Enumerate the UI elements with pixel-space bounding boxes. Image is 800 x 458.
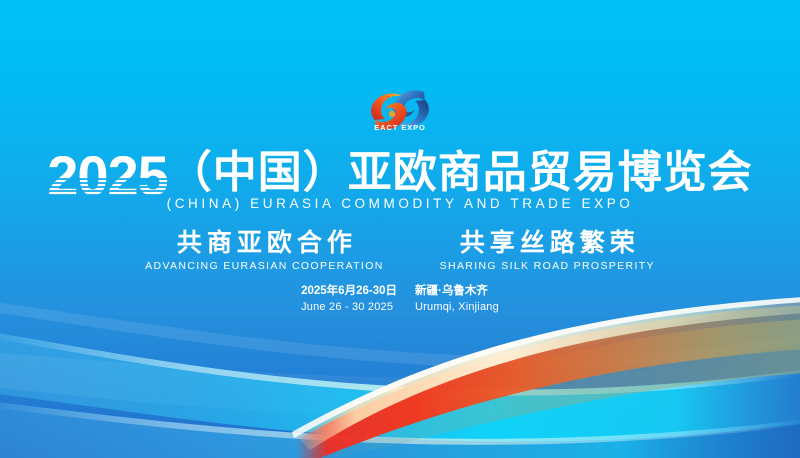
title-chinese: （中国）亚欧商品贸易博览会 [168, 151, 753, 195]
background-waves [0, 0, 800, 458]
event-venue-chinese: 新疆·乌鲁木齐 [415, 284, 499, 300]
slogan-left-chinese: 共商亚欧合作 [145, 230, 383, 258]
expo-banner: EACT EXPO 2025（中国）亚欧商品贸易博览会 (CHINA) EURA… [0, 0, 800, 458]
logo-wordmark: EACT EXPO [0, 123, 800, 132]
slogan-right-chinese: 共享丝路繁荣 [440, 230, 655, 258]
slogan-left-english: ADVANCING EURASIAN COOPERATION [145, 261, 383, 273]
slogan-left: 共商亚欧合作 ADVANCING EURASIAN COOPERATION [145, 230, 383, 272]
event-venue-english: Urumqi, Xinjiang [415, 300, 499, 315]
title-english: (CHINA) EURASIA COMMODITY AND TRADE EXPO [0, 196, 800, 211]
event-date: 2025年6月26-30日 June 26 - 30 2025 [301, 284, 397, 314]
slogan-right: 共享丝路繁荣 SHARING SILK ROAD PROSPERITY [440, 230, 655, 272]
date-venue-row: 2025年6月26-30日 June 26 - 30 2025 新疆·乌鲁木齐 … [0, 284, 800, 314]
slogan-row: 共商亚欧合作 ADVANCING EURASIAN COOPERATION 共享… [0, 230, 800, 272]
slogan-right-english: SHARING SILK ROAD PROSPERITY [440, 261, 655, 273]
event-date-english: June 26 - 30 2025 [301, 300, 397, 315]
event-venue: 新疆·乌鲁木齐 Urumqi, Xinjiang [415, 284, 499, 314]
logo: EACT EXPO [0, 84, 800, 138]
event-date-chinese: 2025年6月26-30日 [301, 284, 397, 300]
